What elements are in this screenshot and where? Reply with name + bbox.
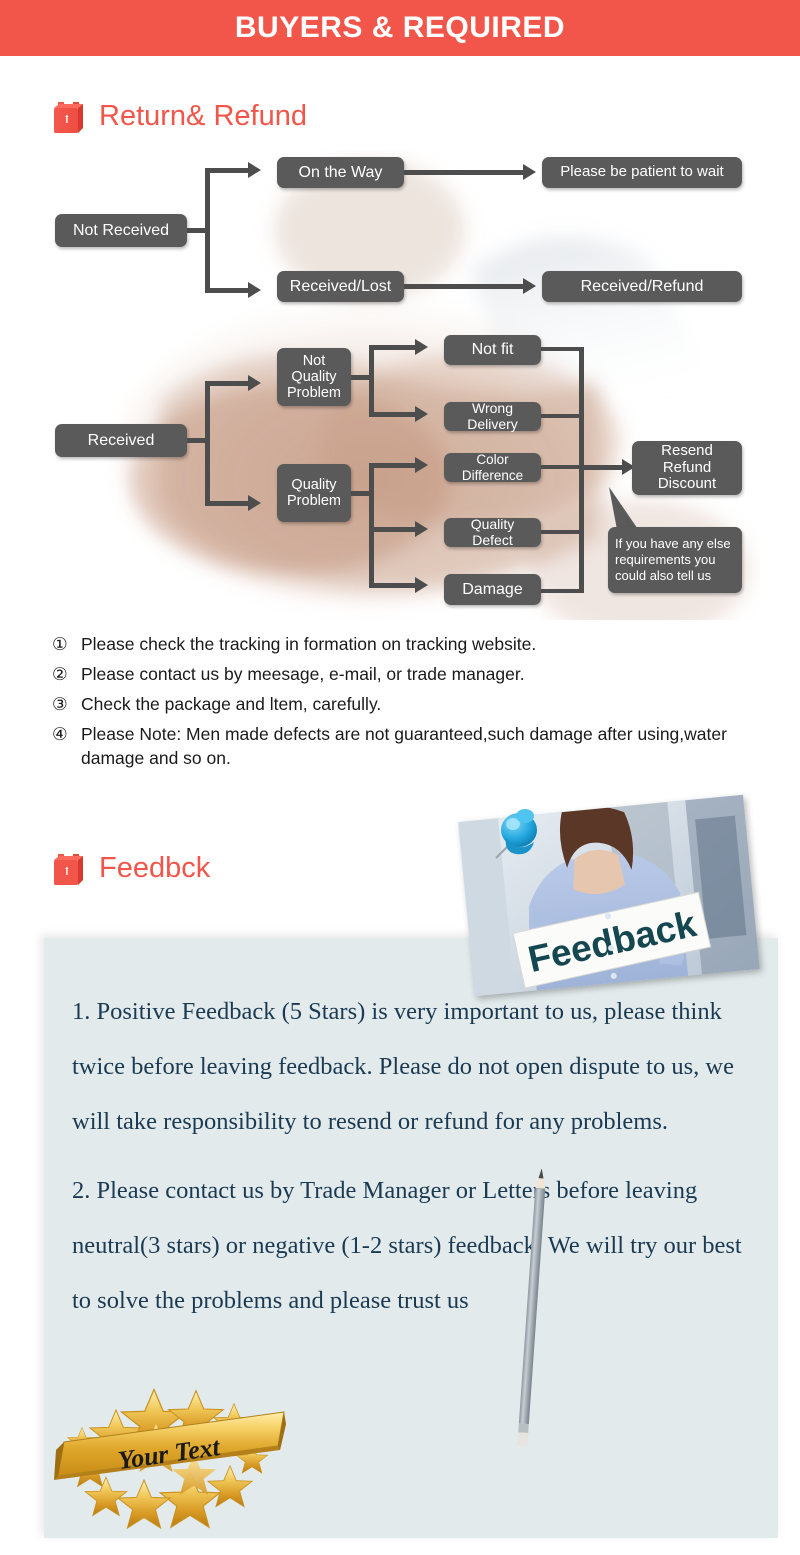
flow-arrowhead bbox=[415, 577, 428, 593]
flow-node-not-quality-problem: Not Quality Problem bbox=[277, 348, 351, 406]
list-item: ② Please contact us by meesage, e-mail, … bbox=[52, 662, 772, 687]
flow-connector bbox=[205, 501, 250, 506]
list-item-number: ① bbox=[52, 632, 72, 657]
list-item-number: ② bbox=[52, 662, 72, 687]
flow-node-received-lost: Received/Lost bbox=[277, 271, 404, 302]
list-item-number: ③ bbox=[52, 692, 72, 717]
parcel-box-icon bbox=[52, 850, 85, 887]
flow-connector bbox=[205, 381, 210, 506]
flow-node-color-difference: Color Difference bbox=[444, 453, 541, 482]
feedback-text: 1. Positive Feedback (5 Stars) is very i… bbox=[72, 984, 744, 1342]
list-item-text: Please check the tracking in formation o… bbox=[81, 632, 772, 657]
list-item: ① Please check the tracking in formation… bbox=[52, 632, 772, 657]
flow-connector bbox=[205, 168, 210, 293]
returns-notes-list: ① Please check the tracking in formation… bbox=[52, 632, 772, 776]
flow-connector bbox=[579, 347, 584, 593]
flow-arrowhead bbox=[523, 278, 536, 294]
flow-connector bbox=[369, 345, 417, 350]
list-item-number: ④ bbox=[52, 722, 72, 772]
feedback-paragraph-2: 2. Please contact us by Trade Manager or… bbox=[72, 1163, 744, 1328]
flow-node-callout: If you have any else requirements you co… bbox=[608, 527, 742, 593]
list-item: ④ Please Note: Men made defects are not … bbox=[52, 722, 772, 772]
flow-node-damage: Damage bbox=[444, 574, 541, 605]
flow-node-not-received: Not Received bbox=[55, 214, 187, 247]
flow-node-please-wait: Please be patient to wait bbox=[542, 157, 742, 188]
flow-connector bbox=[205, 288, 250, 293]
flow-arrowhead bbox=[415, 339, 428, 355]
section-heading-feedback-label: Feedbck bbox=[99, 852, 210, 885]
list-item: ③ Check the package and ltem, carefully. bbox=[52, 692, 772, 717]
flow-node-received-refund: Received/Refund bbox=[542, 271, 742, 302]
flow-node-quality-problem: Quality Problem bbox=[277, 464, 351, 522]
flow-node-not-fit: Not fit bbox=[444, 335, 541, 365]
flow-connector bbox=[541, 589, 583, 593]
flow-arrowhead bbox=[248, 495, 261, 511]
flow-connector bbox=[404, 170, 528, 175]
list-item-text: Please contact us by meesage, e-mail, or… bbox=[81, 662, 772, 687]
section-heading-feedback: Feedbck bbox=[52, 850, 210, 887]
flow-node-resend-refund-discount: Resend Refund Discount bbox=[632, 441, 742, 495]
flow-node-received: Received bbox=[55, 424, 187, 457]
flow-connector bbox=[541, 347, 583, 351]
flow-node-wrong-delivery: Wrong Delivery bbox=[444, 402, 541, 431]
flow-connector bbox=[369, 412, 417, 417]
flow-arrowhead bbox=[248, 375, 261, 391]
flow-node-quality-defect: Quality Defect bbox=[444, 518, 541, 547]
flow-arrowhead bbox=[415, 521, 428, 537]
flow-connector bbox=[205, 168, 250, 173]
flow-arrowhead bbox=[248, 162, 261, 178]
flow-connector bbox=[369, 463, 374, 588]
flow-connector bbox=[541, 414, 583, 418]
flowchart: Not Received On the Way Please be patien… bbox=[0, 0, 800, 620]
pushpin-icon bbox=[492, 806, 544, 868]
list-item-text: Please Note: Men made defects are not gu… bbox=[81, 722, 772, 772]
list-item-text: Check the package and ltem, carefully. bbox=[81, 692, 772, 717]
flow-connector bbox=[541, 465, 583, 469]
flow-connector bbox=[579, 465, 627, 470]
flow-arrowhead bbox=[415, 406, 428, 422]
star-ribbon-badge: Your Text bbox=[44, 1380, 296, 1540]
feedback-paragraph-1: 1. Positive Feedback (5 Stars) is very i… bbox=[72, 984, 744, 1149]
flow-arrowhead bbox=[248, 282, 261, 298]
flow-arrowhead bbox=[523, 164, 536, 180]
flow-connector bbox=[369, 463, 417, 468]
flow-connector bbox=[205, 381, 250, 386]
flow-connector bbox=[369, 583, 417, 588]
flow-arrowhead bbox=[415, 457, 428, 473]
flow-connector bbox=[541, 530, 583, 534]
flow-node-on-the-way: On the Way bbox=[277, 157, 404, 188]
flow-connector bbox=[404, 284, 528, 289]
flow-connector bbox=[369, 527, 417, 532]
flow-connector bbox=[369, 345, 374, 417]
